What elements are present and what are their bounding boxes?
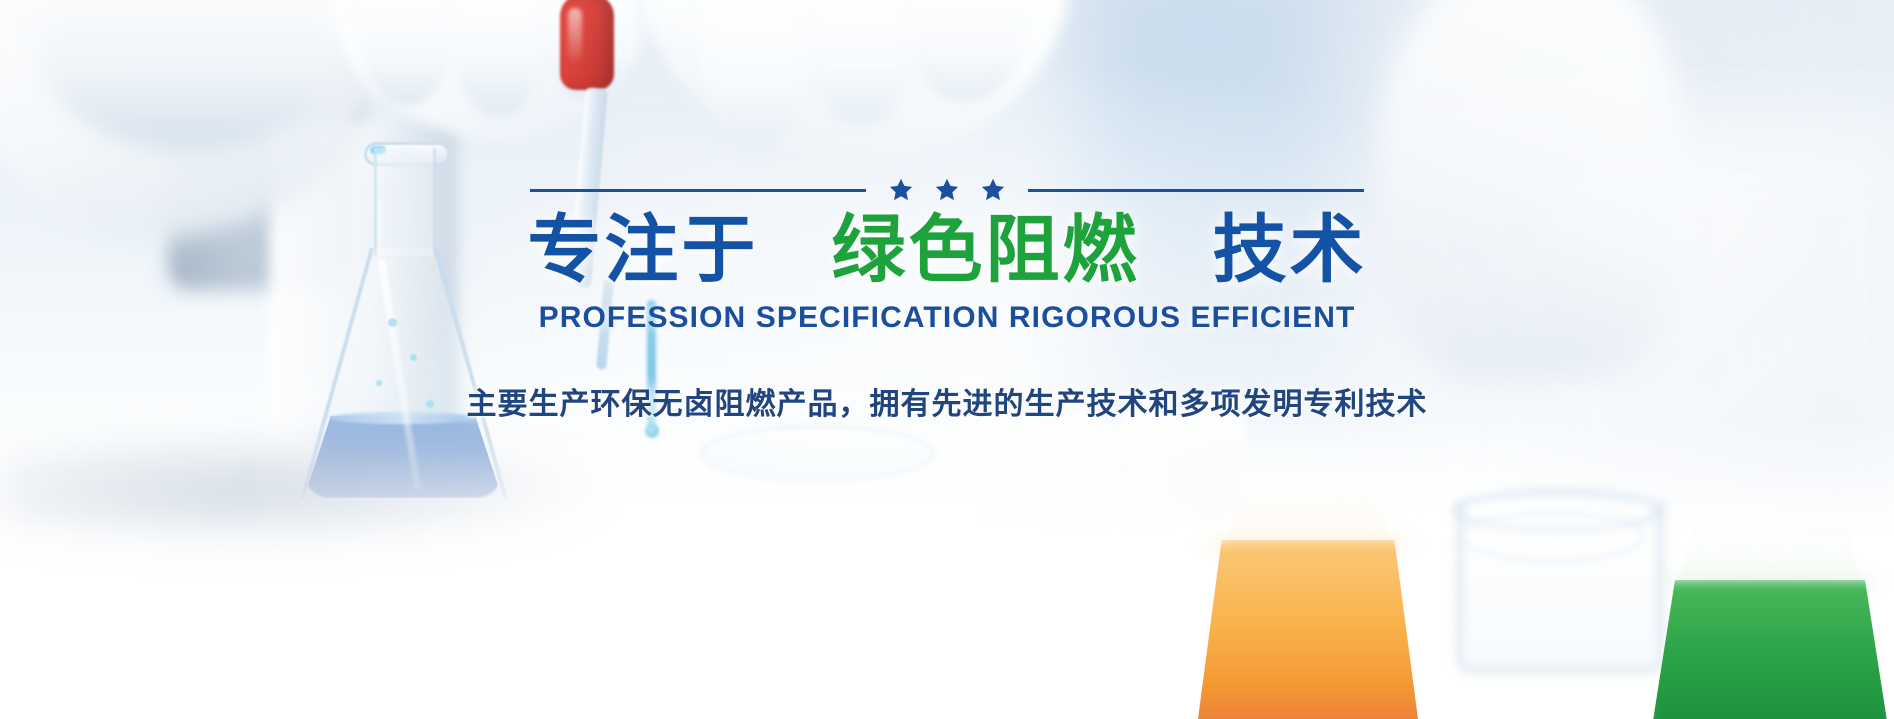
english-subtitle: PROFESSION SPECIFICATION RIGOROUS EFFICI…: [0, 301, 1894, 335]
petri-dish: [1462, 512, 1644, 562]
headline-part-3: 技术: [1213, 208, 1367, 291]
headline: 专注于 绿色阻燃 技术: [0, 211, 1894, 289]
star-icon: [980, 177, 1006, 203]
headline-part-1: 专注于: [527, 208, 758, 291]
decorative-divider-row: [0, 178, 1894, 202]
star-icon: [888, 177, 914, 203]
banner-content: 专注于 绿色阻燃 技术 PROFESSION SPECIFICATION RIG…: [0, 178, 1894, 423]
pipette-bulb-highlight: [568, 8, 582, 66]
green-beaker: [1645, 580, 1894, 719]
headline-part-2: 绿色阻燃: [832, 208, 1140, 291]
desk-shadow: [0, 430, 620, 550]
star-group: [888, 177, 1006, 203]
divider-line-left: [530, 189, 866, 192]
divider-line-right: [1028, 189, 1364, 192]
description-text: 主要生产环保无卤阻燃产品，拥有先进的生产技术和多项发明专利技术: [0, 379, 1894, 423]
star-icon: [934, 177, 960, 203]
hero-banner: 专注于 绿色阻燃 技术 PROFESSION SPECIFICATION RIG…: [0, 0, 1894, 719]
orange-beaker: [1188, 540, 1428, 719]
